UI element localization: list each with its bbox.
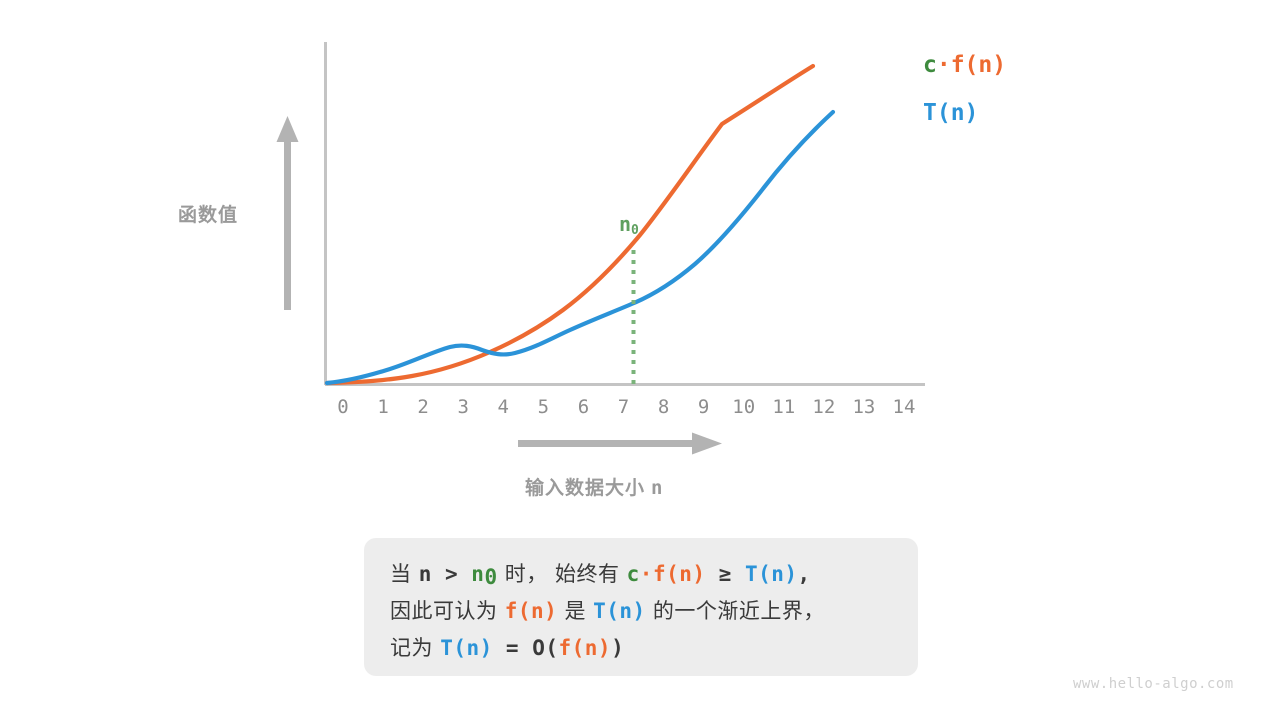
caption-l2-p3: 是 bbox=[557, 599, 593, 623]
caption-l1-p5: 时， bbox=[498, 562, 555, 586]
n0-marker-label: n0 bbox=[619, 212, 639, 236]
x-tick-label-11: 11 bbox=[764, 396, 804, 418]
caption-l1-gt: > bbox=[432, 562, 471, 586]
legend-f-of-n: ·f(n) bbox=[937, 52, 1006, 78]
legend-c-constant: c bbox=[923, 52, 937, 78]
x-tick-label-2: 2 bbox=[403, 396, 443, 418]
y-direction-arrow-icon bbox=[277, 116, 299, 310]
x-direction-arrow-icon bbox=[518, 433, 722, 455]
n0-marker-letter: n bbox=[619, 212, 631, 236]
x-tick-label-6: 6 bbox=[563, 396, 603, 418]
caption-l1-geq: ≥ bbox=[706, 562, 745, 586]
caption-l2-p1: 因此可认为 bbox=[390, 599, 505, 623]
x-tick-label-10: 10 bbox=[724, 396, 764, 418]
caption-line-3: 记为 T(n) = O(f(n)) bbox=[390, 630, 918, 667]
caption-l1-p6: 始终有 bbox=[555, 562, 627, 586]
caption-l3-bigo-close: ) bbox=[611, 636, 624, 660]
caption-box: 当 n > n0 时， 始终有 c·f(n) ≥ T(n), 因此可认为 f(n… bbox=[364, 538, 918, 676]
x-tick-label-14: 14 bbox=[884, 396, 924, 418]
x-axis-label-text: 输入数据大小 bbox=[525, 478, 645, 499]
caption-l1-var-n: n bbox=[419, 562, 432, 586]
caption-l1-comma: , bbox=[798, 562, 811, 586]
x-tick-label-3: 3 bbox=[443, 396, 483, 418]
caption-l1-fn: ·f(n) bbox=[640, 562, 706, 586]
caption-l2-p5: 的一个渐近上界， bbox=[646, 599, 825, 623]
caption-l2-fn: f(n) bbox=[505, 599, 558, 623]
caption-l2-tn: T(n) bbox=[593, 599, 646, 623]
caption-l3-bigo-open: O( bbox=[532, 636, 558, 660]
x-tick-label-8: 8 bbox=[644, 396, 684, 418]
legend-label-c-f-n: c·f(n) bbox=[923, 52, 1006, 78]
caption-l3-fn: f(n) bbox=[559, 636, 612, 660]
caption-l3-tn: T(n) bbox=[440, 636, 493, 660]
caption-l1-n0: n bbox=[471, 562, 484, 586]
caption-l3-eq: = bbox=[493, 636, 532, 660]
legend-label-t-n: T(n) bbox=[923, 100, 978, 126]
x-tick-label-5: 5 bbox=[523, 396, 563, 418]
site-watermark: www.hello-algo.com bbox=[1073, 676, 1234, 692]
n0-marker-subscript: 0 bbox=[631, 223, 639, 238]
caption-l1-n0-sub: 0 bbox=[484, 565, 497, 589]
x-tick-label-13: 13 bbox=[844, 396, 884, 418]
x-tick-label-0: 0 bbox=[323, 396, 363, 418]
curve-t-n bbox=[327, 112, 833, 383]
asymptotic-upper-bound-figure: 函数值 输入数据大小n 01234567891011121314 n0 c·f(… bbox=[0, 0, 1280, 720]
caption-l1-c: c bbox=[627, 562, 640, 586]
caption-line-1: 当 n > n0 时， 始终有 c·f(n) ≥ T(n), bbox=[390, 556, 918, 593]
x-tick-label-1: 1 bbox=[363, 396, 403, 418]
curve-c-f-n bbox=[327, 66, 813, 383]
x-axis-label-variable: n bbox=[645, 477, 663, 499]
caption-l3-p1: 记为 bbox=[390, 636, 440, 660]
y-axis-label: 函数值 bbox=[178, 200, 238, 227]
x-tick-label-12: 12 bbox=[804, 396, 844, 418]
x-tick-label-4: 4 bbox=[483, 396, 523, 418]
caption-line-2: 因此可认为 f(n) 是 T(n) 的一个渐近上界， bbox=[390, 593, 918, 630]
x-tick-label-9: 9 bbox=[684, 396, 724, 418]
caption-l1-tn: T(n) bbox=[745, 562, 798, 586]
caption-l1-p1: 当 bbox=[390, 562, 419, 586]
x-axis-label: 输入数据大小n bbox=[525, 473, 663, 500]
x-tick-label-7: 7 bbox=[604, 396, 644, 418]
